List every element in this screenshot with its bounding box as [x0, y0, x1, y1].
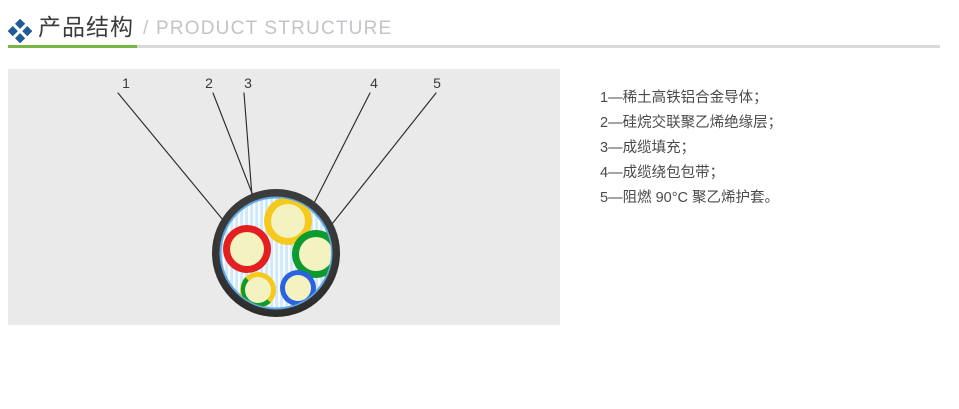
- header-divider: [8, 45, 940, 48]
- legend-item: 5—阻燃 90°C 聚乙烯护套。: [600, 186, 930, 211]
- legend-item: 4—成缆绕包包带；: [600, 161, 930, 186]
- callout-label-3: 3: [244, 75, 252, 91]
- conductor-red-left: [223, 225, 271, 273]
- section-header: 产品结构 / PRODUCT STRUCTURE: [0, 0, 959, 50]
- structure-legend-list: 1—稀土高铁铝合金导体； 2—硅烷交联聚乙烯绝缘层； 3—成缆填充； 4—成缆绕…: [600, 86, 930, 211]
- callout-label-4: 4: [370, 75, 378, 91]
- cable-cross-section: [212, 189, 340, 317]
- legend-item: 3—成缆填充；: [600, 136, 930, 161]
- header-divider-accent: [8, 45, 137, 48]
- callout-label-1: 1: [122, 75, 130, 91]
- legend-item: 2—硅烷交联聚乙烯绝缘层；: [600, 111, 930, 136]
- cable-cross-section-svg: 1 2 3 4 5: [8, 69, 560, 325]
- page-title: 产品结构: [38, 12, 134, 42]
- page-subtitle: / PRODUCT STRUCTURE: [143, 16, 392, 42]
- leader-line-5: [332, 93, 436, 224]
- diamond-cluster-icon: [8, 19, 32, 43]
- product-structure-diagram-panel: 1 2 3 4 5: [8, 69, 560, 325]
- leader-line-4: [308, 93, 370, 215]
- callout-label-2: 2: [205, 75, 213, 91]
- callout-label-5: 5: [433, 75, 441, 91]
- callout-number-labels: 1 2 3 4 5: [122, 75, 441, 91]
- legend-item: 1—稀土高铁铝合金导体；: [600, 86, 930, 111]
